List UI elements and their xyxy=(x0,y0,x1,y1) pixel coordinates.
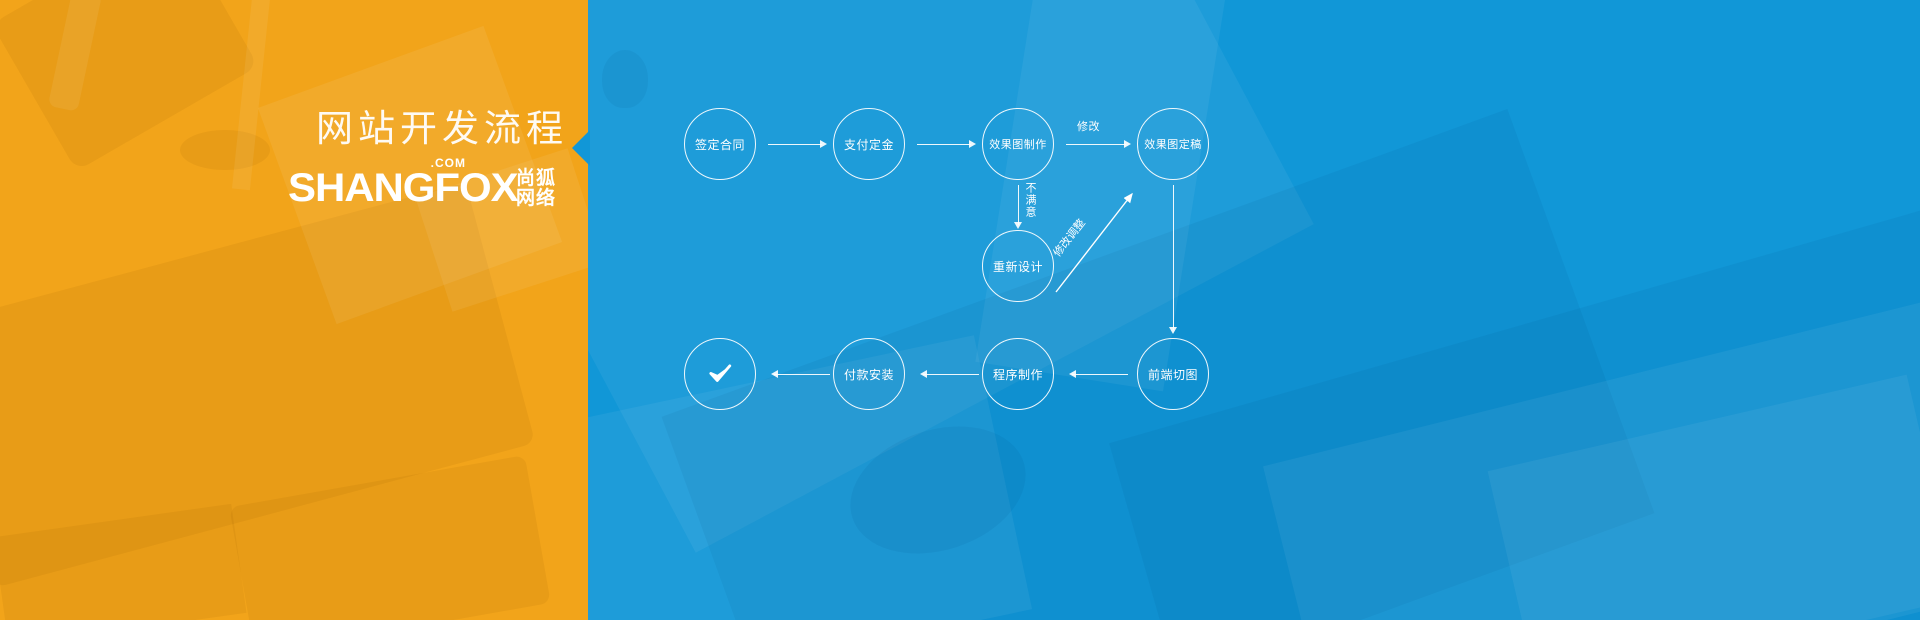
page-title: 网站开发流程 xyxy=(316,110,568,147)
flow-node-sign-contract[interactable]: 签定合同 xyxy=(684,108,756,180)
flow-node-label: 效果图定稿 xyxy=(1144,136,1202,152)
logo-chinese-name: 尚狐 网络 xyxy=(516,168,556,208)
edge-mockup-to-redesign xyxy=(1018,185,1019,225)
edge-program-to-payinstall xyxy=(923,374,979,375)
arrow-head-icon xyxy=(969,140,976,148)
flow-node-label: 签定合同 xyxy=(695,136,745,153)
flow-node-label: 支付定金 xyxy=(844,136,894,153)
arrow-head-icon xyxy=(1124,140,1131,148)
arrow-head-icon xyxy=(1169,327,1177,334)
arrow-head-icon xyxy=(1014,222,1022,229)
flow-node-label: 付款安装 xyxy=(844,366,894,383)
flow-node-label: 前端切图 xyxy=(1148,366,1198,383)
check-icon xyxy=(707,361,733,387)
flow-node-mockup-final[interactable]: 效果图定稿 xyxy=(1137,108,1209,180)
edge-final-to-frontend xyxy=(1173,185,1174,330)
edge-deposit-to-mockup xyxy=(917,144,971,145)
edge-label-unsatisfied: 不满意 xyxy=(1022,182,1038,218)
banner-root: 网站开发流程 .COM SHANGFOX 尚狐 网络 签定合同 支付定金 效果图… xyxy=(0,0,1920,620)
lp-shape-3 xyxy=(180,130,270,170)
flow-node-pay-install[interactable]: 付款安装 xyxy=(833,338,905,410)
flow-node-label: 重新设计 xyxy=(993,258,1043,275)
edge-mockup-to-final xyxy=(1066,144,1126,145)
edge-frontend-to-program xyxy=(1072,374,1128,375)
edge-label-revise-adjust: 修改调整 xyxy=(1049,215,1089,260)
edge-sign-to-deposit xyxy=(768,144,822,145)
flow-node-mockup-make[interactable]: 效果图制作 xyxy=(982,108,1054,180)
arrow-head-icon xyxy=(920,370,927,378)
arrow-head-icon xyxy=(771,370,778,378)
edge-redesign-to-final xyxy=(588,0,1920,620)
arrow-head-icon xyxy=(1069,370,1076,378)
flow-node-label: 效果图制作 xyxy=(989,136,1047,152)
flow-node-frontend-slice[interactable]: 前端切图 xyxy=(1137,338,1209,410)
flow-diagram: 签定合同 支付定金 效果图制作 效果图定稿 重新设计 前端切图 程序制作 付款安… xyxy=(588,0,1920,620)
flow-node-pay-deposit[interactable]: 支付定金 xyxy=(833,108,905,180)
logo-cn-line-1: 尚狐 xyxy=(516,168,556,188)
flow-node-program-build[interactable]: 程序制作 xyxy=(982,338,1054,410)
left-orange-panel xyxy=(0,0,588,620)
arrow-head-icon xyxy=(820,140,827,148)
flow-node-redesign[interactable]: 重新设计 xyxy=(982,230,1054,302)
logo: .COM SHANGFOX 尚狐 网络 xyxy=(288,168,556,208)
edge-label-revise: 修改 xyxy=(1077,118,1100,134)
logo-wordmark: SHANGFOX xyxy=(288,168,518,208)
edge-payinstall-to-complete xyxy=(774,374,830,375)
flow-node-complete[interactable] xyxy=(684,338,756,410)
logo-cn-line-2: 网络 xyxy=(516,188,556,208)
flow-node-label: 程序制作 xyxy=(993,366,1043,383)
